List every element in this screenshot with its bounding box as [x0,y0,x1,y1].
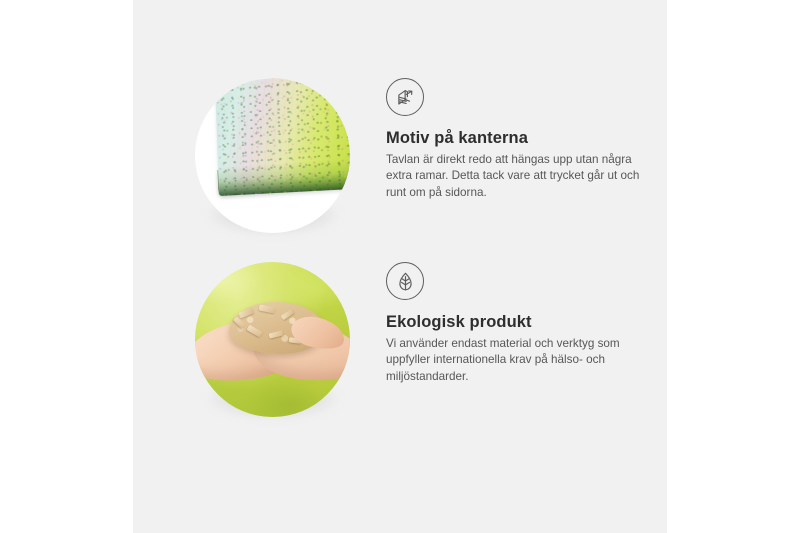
wood-chip [259,304,276,313]
canvas-front-face [215,78,350,196]
content-panel: Motiv på kanterna Tavlan är direkt redo … [133,0,667,533]
feature-image-canvas-print [195,78,350,233]
canvas-print-object [217,84,349,212]
leaf-icon [386,262,424,300]
canvas-edge-wrap-icon [386,78,424,116]
feature-description: Vi använder endast material och verktyg … [386,336,654,385]
feature-text-column-2: Ekologisk produkt Vi använder endast mat… [386,262,664,385]
feature-title: Ekologisk produkt [386,312,664,332]
feature-image-hands-wood-chips [195,262,350,417]
feature-title: Motiv på kanterna [386,128,664,148]
feature-text-column-1: Motiv på kanterna Tavlan är direkt redo … [386,78,664,201]
product-feature-infographic: Motiv på kanterna Tavlan är direkt redo … [0,0,800,533]
feature-description: Tavlan är direkt redo att hängas upp uta… [386,152,654,201]
wood-chip [269,330,284,338]
canvas-paint-speckle [215,78,350,196]
wood-chip [233,317,245,329]
wood-chip [247,325,263,338]
wood-chip [281,309,295,320]
